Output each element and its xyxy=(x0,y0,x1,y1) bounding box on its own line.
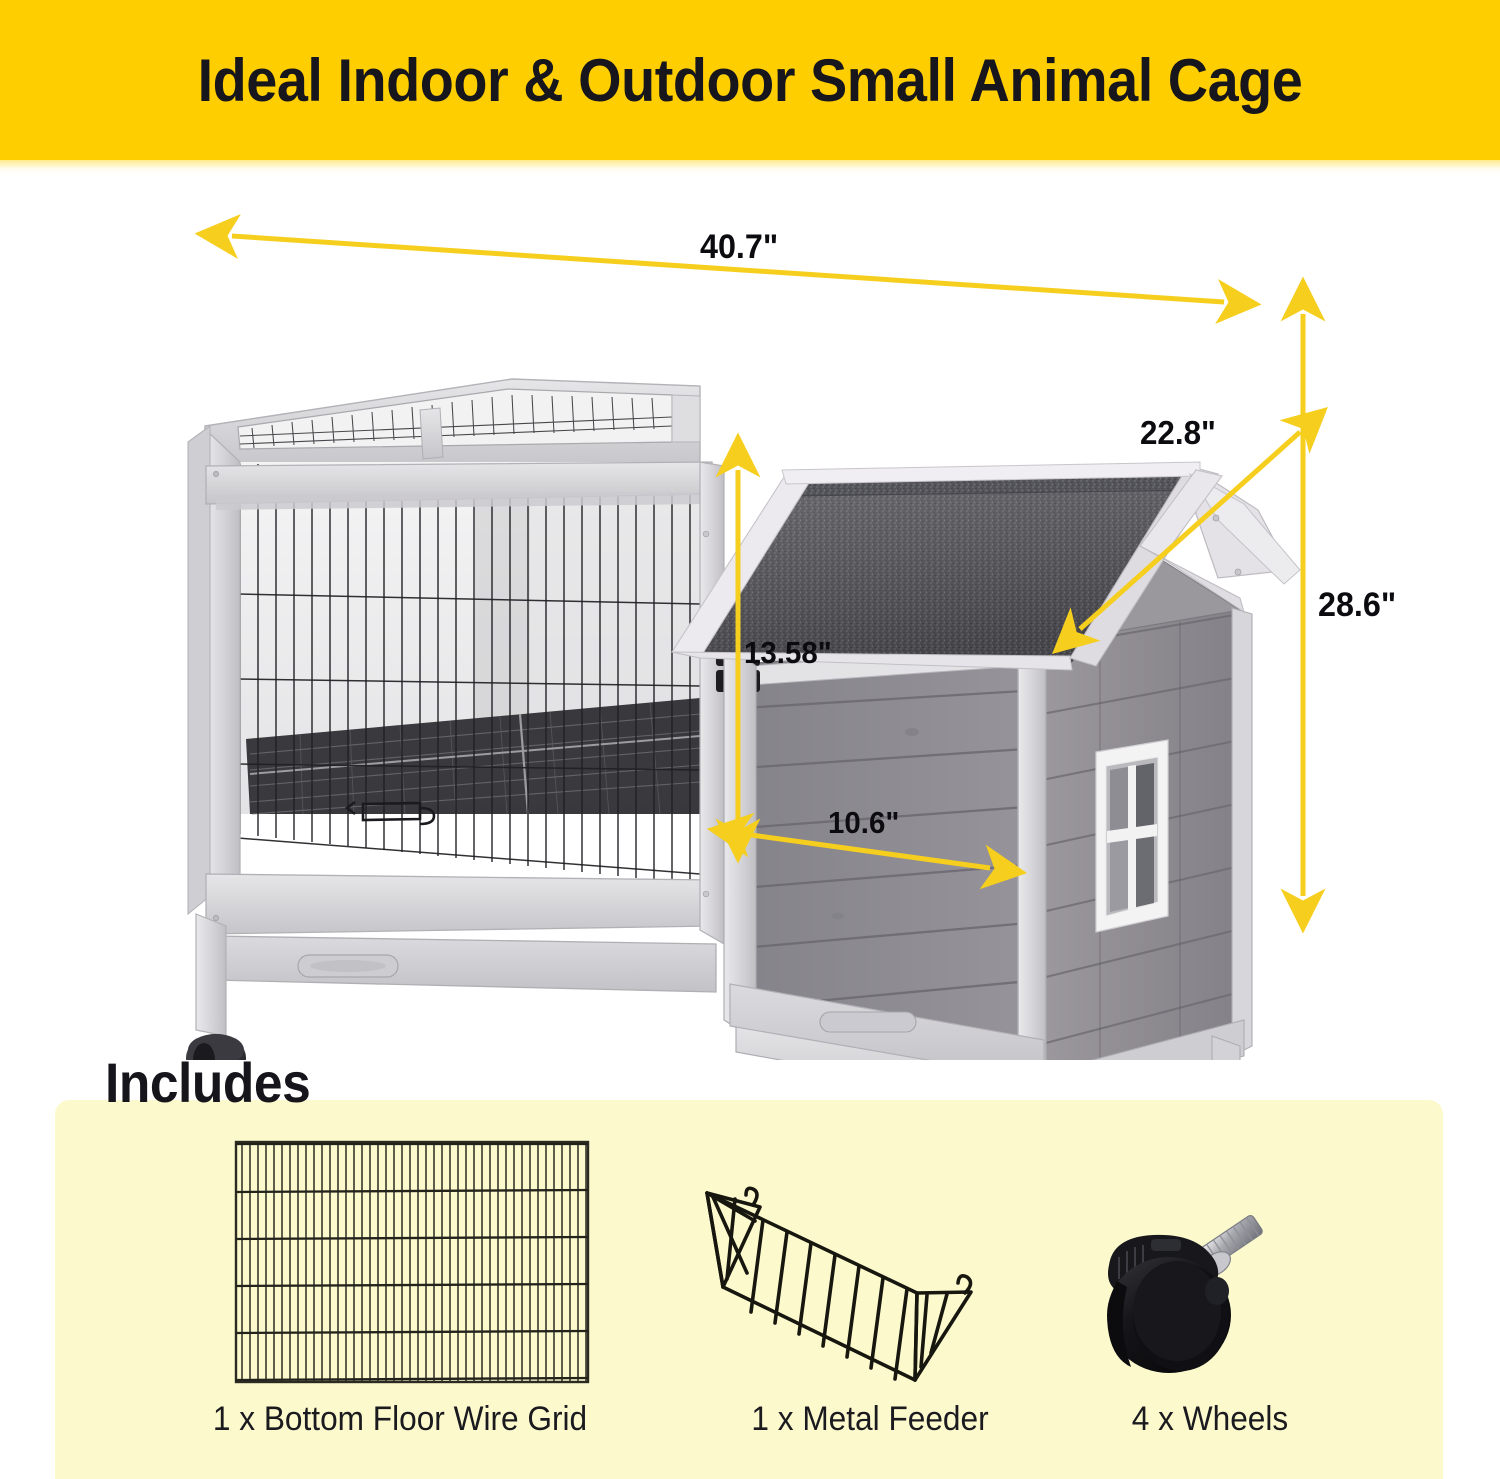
pullout-tray[interactable] xyxy=(212,936,716,992)
includes-caption-wire-grid: 1 x Bottom Floor Wire Grid xyxy=(130,1400,669,1439)
dimension-label-overall-height: 28.6" xyxy=(1318,586,1396,625)
lower-tray-handle[interactable] xyxy=(820,1012,916,1032)
header-banner-fade xyxy=(0,160,1500,174)
run-top-lid xyxy=(205,379,700,469)
dimension-label-door-width: 10.6" xyxy=(828,805,899,841)
house-window xyxy=(1096,740,1168,932)
hutch-house xyxy=(672,462,1300,1060)
product-photo xyxy=(0,174,1500,1060)
page-title: Ideal Indoor & Outdoor Small Animal Cage xyxy=(53,0,1448,160)
product-illustration-stage xyxy=(0,174,1500,1060)
includes-caption-wheels: 4 x Wheels xyxy=(1015,1400,1406,1439)
dimension-label-overall-depth: 22.8" xyxy=(1140,414,1216,452)
caster-wheel-icon xyxy=(1065,1195,1285,1400)
wire-run-enclosure xyxy=(186,426,724,1060)
includes-item-wheels xyxy=(1065,1195,1285,1405)
wire-grid-icon xyxy=(228,1132,596,1394)
includes-heading: Includes xyxy=(105,1050,310,1115)
dimension-label-door-height: 13.58" xyxy=(744,635,832,671)
metal-feeder-icon xyxy=(665,1175,985,1410)
dimension-label-overall-width: 40.7" xyxy=(700,228,778,267)
includes-item-wire-grid xyxy=(228,1132,596,1399)
includes-item-metal-feeder xyxy=(665,1175,985,1415)
